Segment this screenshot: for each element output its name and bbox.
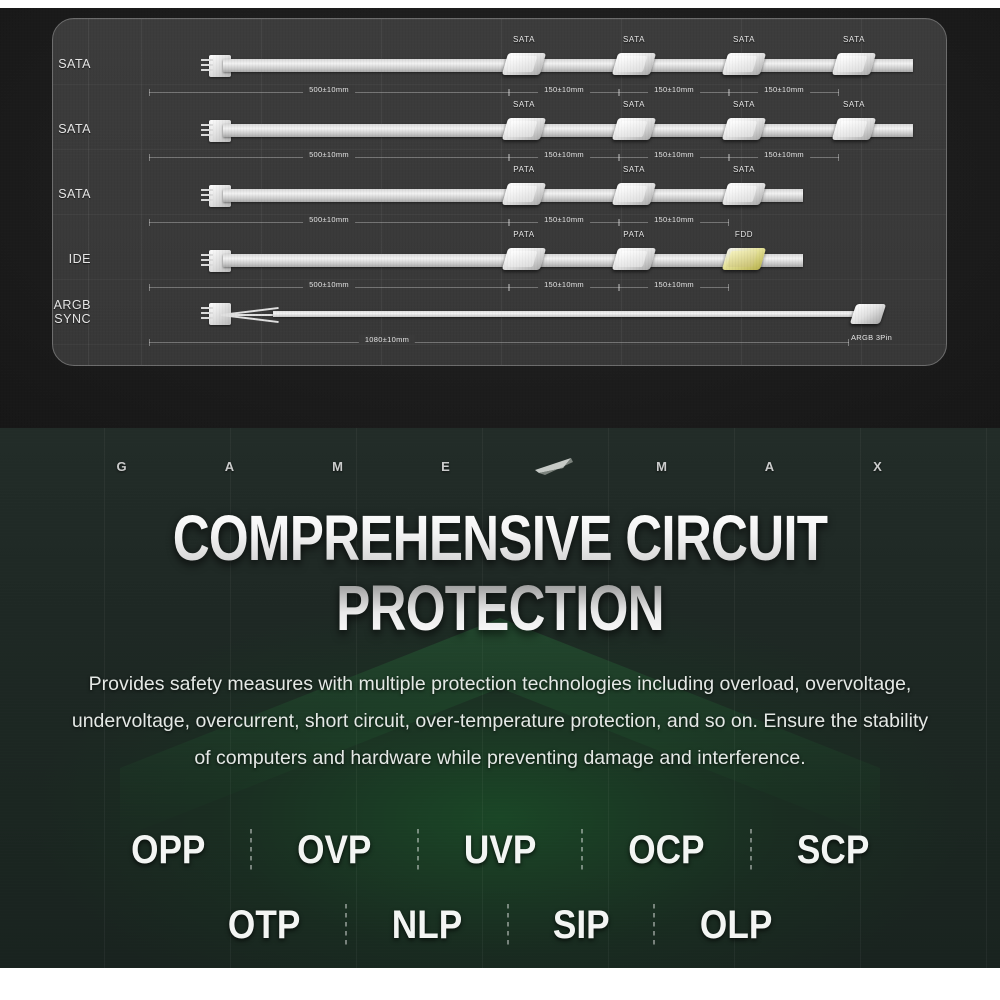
wing-logo-svg <box>533 456 575 476</box>
connector-pata: PATA <box>615 244 653 274</box>
protection-acronyms-row-1: OPP OVP UVP OCP SCP <box>0 828 1000 873</box>
dimension-main: 500±10mm <box>149 152 509 162</box>
acronym-separator <box>653 904 655 948</box>
connector-label: SATA <box>721 35 767 44</box>
dimension-label: 150±10mm <box>538 150 590 159</box>
connector-label: SATA <box>721 100 767 109</box>
brand-letter-x: X <box>824 459 932 474</box>
connector-label: SATA <box>611 100 657 109</box>
dimension-label: 150±10mm <box>758 150 810 159</box>
connector-sata: SATA <box>835 49 873 79</box>
cable-diagram-section: SATA SATA SATA SATA SATA <box>0 8 1000 428</box>
dimension-segment: 150±10mm <box>509 87 619 97</box>
cable-row-label: IDE <box>52 252 91 266</box>
dimension-label: 150±10mm <box>758 85 810 94</box>
dimension-main: 500±10mm <box>149 87 509 97</box>
acronym-sip: SIP <box>547 903 614 948</box>
connector-sata: SATA <box>505 49 543 79</box>
dimension-label: 1080±10mm <box>359 335 415 344</box>
dimension-label: 150±10mm <box>538 280 590 289</box>
dimension-label: 500±10mm <box>303 215 355 224</box>
connector-fdd: FDD <box>725 244 763 274</box>
connector-pata: PATA <box>505 179 543 209</box>
acronym-nlp: NLP <box>386 903 467 948</box>
protection-acronyms-row-2: OTP NLP SIP OLP <box>0 903 1000 948</box>
connector-sata: SATA <box>615 114 653 144</box>
connector-label: SATA <box>721 165 767 174</box>
acronym-opp: OPP <box>126 828 211 873</box>
bottom-white-strip <box>0 968 1000 1000</box>
acronym-separator <box>345 904 347 948</box>
dimension-segment: 150±10mm <box>509 217 619 227</box>
cable-diagram-panel: SATA SATA SATA SATA SATA <box>52 18 947 366</box>
brand-letter-a1: A <box>176 459 284 474</box>
dimension-main: 1080±10mm <box>149 337 849 347</box>
argb-label-line2: SYNC <box>54 312 91 326</box>
brand-letter-e: E <box>392 459 500 474</box>
acronym-uvp: UVP <box>459 828 542 873</box>
acronym-scp: SCP <box>791 828 874 873</box>
acronym-separator <box>250 829 252 873</box>
body-paragraph: Provides safety measures with multiple p… <box>65 666 935 777</box>
acronym-ovp: OVP <box>292 828 377 873</box>
connector-sata: SATA <box>725 49 763 79</box>
top-white-strip <box>0 0 1000 8</box>
acronym-separator <box>581 829 583 873</box>
brand-letter-g: G <box>68 459 176 474</box>
acronym-separator <box>507 904 509 948</box>
connector-sata: SATA <box>505 114 543 144</box>
dimension-segment: 150±10mm <box>619 282 729 292</box>
cable-row-sata-1: SATA SATA SATA SATA SATA <box>53 47 946 112</box>
connector-label: PATA <box>611 230 657 239</box>
connector-sata: SATA <box>725 114 763 144</box>
acronym-separator <box>417 829 419 873</box>
connector-sata: SATA <box>835 114 873 144</box>
cable-row-label: SATA <box>52 57 91 71</box>
title-line-1: COMPREHENSIVE CIRCUIT <box>173 502 828 574</box>
dimension-segment: 150±10mm <box>619 87 729 97</box>
connector-label: SATA <box>831 35 877 44</box>
dimension-label: 150±10mm <box>648 280 700 289</box>
dimension-segment: 150±10mm <box>729 87 839 97</box>
dimension-label: 500±10mm <box>303 150 355 159</box>
connector-sata: SATA <box>615 179 653 209</box>
dimension-segment: 150±10mm <box>729 152 839 162</box>
connector-label: SATA <box>611 35 657 44</box>
dimension-segment: 150±10mm <box>619 152 729 162</box>
title-line-2: PROTECTION <box>100 573 900 643</box>
acronym-ocp: OCP <box>623 828 710 873</box>
connector-label: SATA <box>501 35 547 44</box>
connector-sata: SATA <box>725 179 763 209</box>
acronym-separator <box>750 829 752 873</box>
dimension-label: 150±10mm <box>648 150 700 159</box>
dimension-main: 500±10mm <box>149 282 509 292</box>
connector-label: FDD <box>721 230 767 239</box>
cable-row-label: SATA <box>52 187 91 201</box>
connector-label: PATA <box>501 165 547 174</box>
brand-letter-a2: A <box>716 459 824 474</box>
cable-row-label-argb: ARGB SYNC <box>52 298 91 326</box>
dimension-label: 500±10mm <box>303 280 355 289</box>
argb-label-line1: ARGB <box>54 298 91 312</box>
connector-label: SATA <box>611 165 657 174</box>
brand-letter-m1: M <box>284 459 392 474</box>
wire-fanout <box>221 301 279 327</box>
dimension-label: 500±10mm <box>303 85 355 94</box>
circuit-protection-section: G A M E M A X COMPREHENSIVE CIRCUIT PROT… <box>0 428 1000 968</box>
connector-label: SATA <box>501 100 547 109</box>
connector-argb-3pin <box>853 301 887 329</box>
page-title: COMPREHENSIVE CIRCUIT PROTECTION <box>100 503 900 643</box>
cable-row-sata-2: SATA SATA SATA SATA SATA <box>53 112 946 177</box>
cable-row-argb-sync: ARGB SYNC 1080±10mm <box>53 295 946 365</box>
connector-label: PATA <box>501 230 547 239</box>
connector-label: SATA <box>831 100 877 109</box>
dimension-main: 500±10mm <box>149 217 509 227</box>
cable-row-label: SATA <box>52 122 91 136</box>
cable-row-sata-3: SATA PATA SATA SATA <box>53 177 946 242</box>
dimension-label: 150±10mm <box>648 215 700 224</box>
argb-end-label: ARGB 3Pin <box>851 333 892 342</box>
product-page: SATA SATA SATA SATA SATA <box>0 0 1000 1000</box>
dimension-segment: 150±10mm <box>619 217 729 227</box>
dimension-label: 150±10mm <box>648 85 700 94</box>
dimension-segment: 150±10mm <box>509 282 619 292</box>
connector-pata: PATA <box>505 244 543 274</box>
acronym-otp: OTP <box>222 903 305 948</box>
gamemax-wing-logo-icon <box>500 456 608 476</box>
dimension-segment: 150±10mm <box>509 152 619 162</box>
dimension-label: 150±10mm <box>538 85 590 94</box>
connector-sata: SATA <box>615 49 653 79</box>
brand-letter-m2: M <box>608 459 716 474</box>
brand-letter-row: G A M E M A X <box>0 446 1000 486</box>
acronym-olp: OLP <box>695 903 778 948</box>
dimension-label: 150±10mm <box>538 215 590 224</box>
